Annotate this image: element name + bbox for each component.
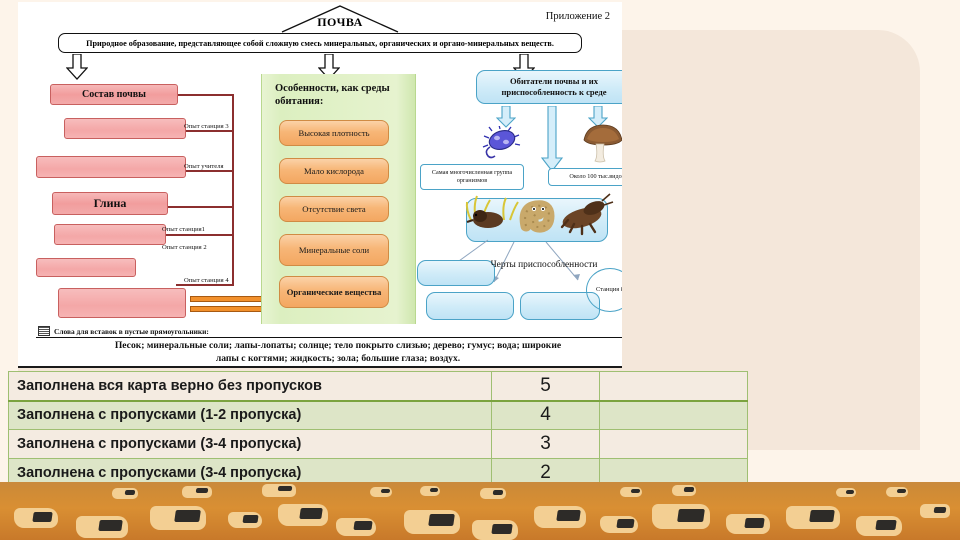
mushroom-caption: Около 100 тыс.видов xyxy=(548,168,622,186)
pill-low-oxygen[interactable]: Мало кислорода xyxy=(279,158,389,184)
table-row[interactable]: Заполнена с пропусками (1-2 пропуска) 4 xyxy=(9,401,748,430)
bacteria-icon xyxy=(480,126,524,160)
page-title: ПОЧВА xyxy=(280,15,400,30)
note-cell[interactable] xyxy=(600,401,748,430)
pill-mineral-salts[interactable]: Минеральные соли xyxy=(279,234,389,266)
station-label-4: Опыт станция 4 xyxy=(184,277,229,284)
blank-box-5[interactable] xyxy=(58,288,186,318)
branch-link xyxy=(184,130,234,132)
branch-link xyxy=(184,170,234,172)
blank-box-4[interactable] xyxy=(36,258,136,277)
criteria-table-wrapper: Заполнена вся карта верно без пропусков … xyxy=(8,371,748,488)
feature-blank-2[interactable] xyxy=(426,292,514,320)
criterion-cell: Заполнена вся карта верно без пропусков xyxy=(9,372,492,401)
branch-link xyxy=(166,206,234,208)
station-label-2: Опыт станция 2 xyxy=(162,244,207,251)
words-label: Слова для вставок в пустые прямоугольник… xyxy=(36,326,622,338)
criteria-table: Заполнена вся карта верно без пропусков … xyxy=(8,371,748,488)
station-label-teacher: Опыт учителя xyxy=(184,163,224,170)
table-row[interactable]: Заполнена вся карта верно без пропусков … xyxy=(9,372,748,401)
branch-link xyxy=(156,234,234,236)
soil-definition-box: Природное образование, представляющее со… xyxy=(58,33,582,53)
mushroom-icon xyxy=(580,122,622,164)
clip-glyph-icon xyxy=(38,326,50,336)
soil-animals-illustration xyxy=(464,186,614,244)
branch-trunk xyxy=(232,94,234,286)
criterion-cell: Заполнена с пропусками (3-4 пропуска) xyxy=(9,430,492,459)
words-line-1: Песок; минеральные соли; лапы-лопаты; со… xyxy=(50,340,622,353)
criterion-cell: Заполнена с пропусками (1-2 пропуска) xyxy=(9,401,492,430)
soil-mind-map-image: ПОЧВА Приложение 2 Природное образование… xyxy=(18,2,622,368)
adaptation-features-label: Черты приспособленности xyxy=(484,260,604,271)
soil-texture-footer xyxy=(0,482,960,540)
note-cell[interactable] xyxy=(600,430,748,459)
score-cell: 4 xyxy=(492,401,600,430)
appendix-label: Приложение 2 xyxy=(546,11,610,22)
score-cell: 5 xyxy=(492,372,600,401)
habitat-heading: Особенности, как среды обитания: xyxy=(275,82,407,108)
habitat-features-branch: Особенности, как среды обитания: Высокая… xyxy=(261,74,416,324)
station-label-1: Опыт станция1 xyxy=(162,226,205,233)
soil-definition-text: Природное образование, представляющее со… xyxy=(86,39,554,48)
box-soil-composition[interactable]: Состав почвы xyxy=(50,84,178,105)
table-row[interactable]: Заполнена с пропусками (3-4 пропуска) 3 xyxy=(9,430,748,459)
blank-box-1[interactable] xyxy=(64,118,186,139)
words-list: Песок; минеральные соли; лапы-лопаты; со… xyxy=(36,338,622,368)
words-line-2: лапы с когтями; жидкость; зола; большие … xyxy=(50,353,622,366)
blank-box-2[interactable] xyxy=(36,156,186,178)
inhabitants-heading-box[interactable]: Обитатели почвы и их приспособленность к… xyxy=(476,70,622,104)
note-cell[interactable] xyxy=(600,372,748,401)
slide-background: ПОЧВА Приложение 2 Природное образование… xyxy=(0,0,960,540)
words-for-insertion-block: Слова для вставок в пустые прямоугольник… xyxy=(36,326,622,368)
box-clay[interactable]: Глина xyxy=(52,192,168,215)
pill-high-density[interactable]: Высокая плотность xyxy=(279,120,389,146)
pill-organic-matter[interactable]: Органические вещества xyxy=(279,276,389,308)
branch-link xyxy=(176,94,234,96)
pill-no-light[interactable]: Отсутствие света xyxy=(279,196,389,222)
down-arrow-icon xyxy=(496,106,516,128)
down-arrow-icon xyxy=(540,106,564,172)
blank-box-3[interactable] xyxy=(54,224,166,245)
score-cell: 3 xyxy=(492,430,600,459)
soil-composition-branch: Состав почвы Глина Опыт станция 3 Опы xyxy=(36,74,248,324)
station-label-3: Опыт станция 3 xyxy=(184,123,229,130)
branch-link xyxy=(176,284,234,286)
